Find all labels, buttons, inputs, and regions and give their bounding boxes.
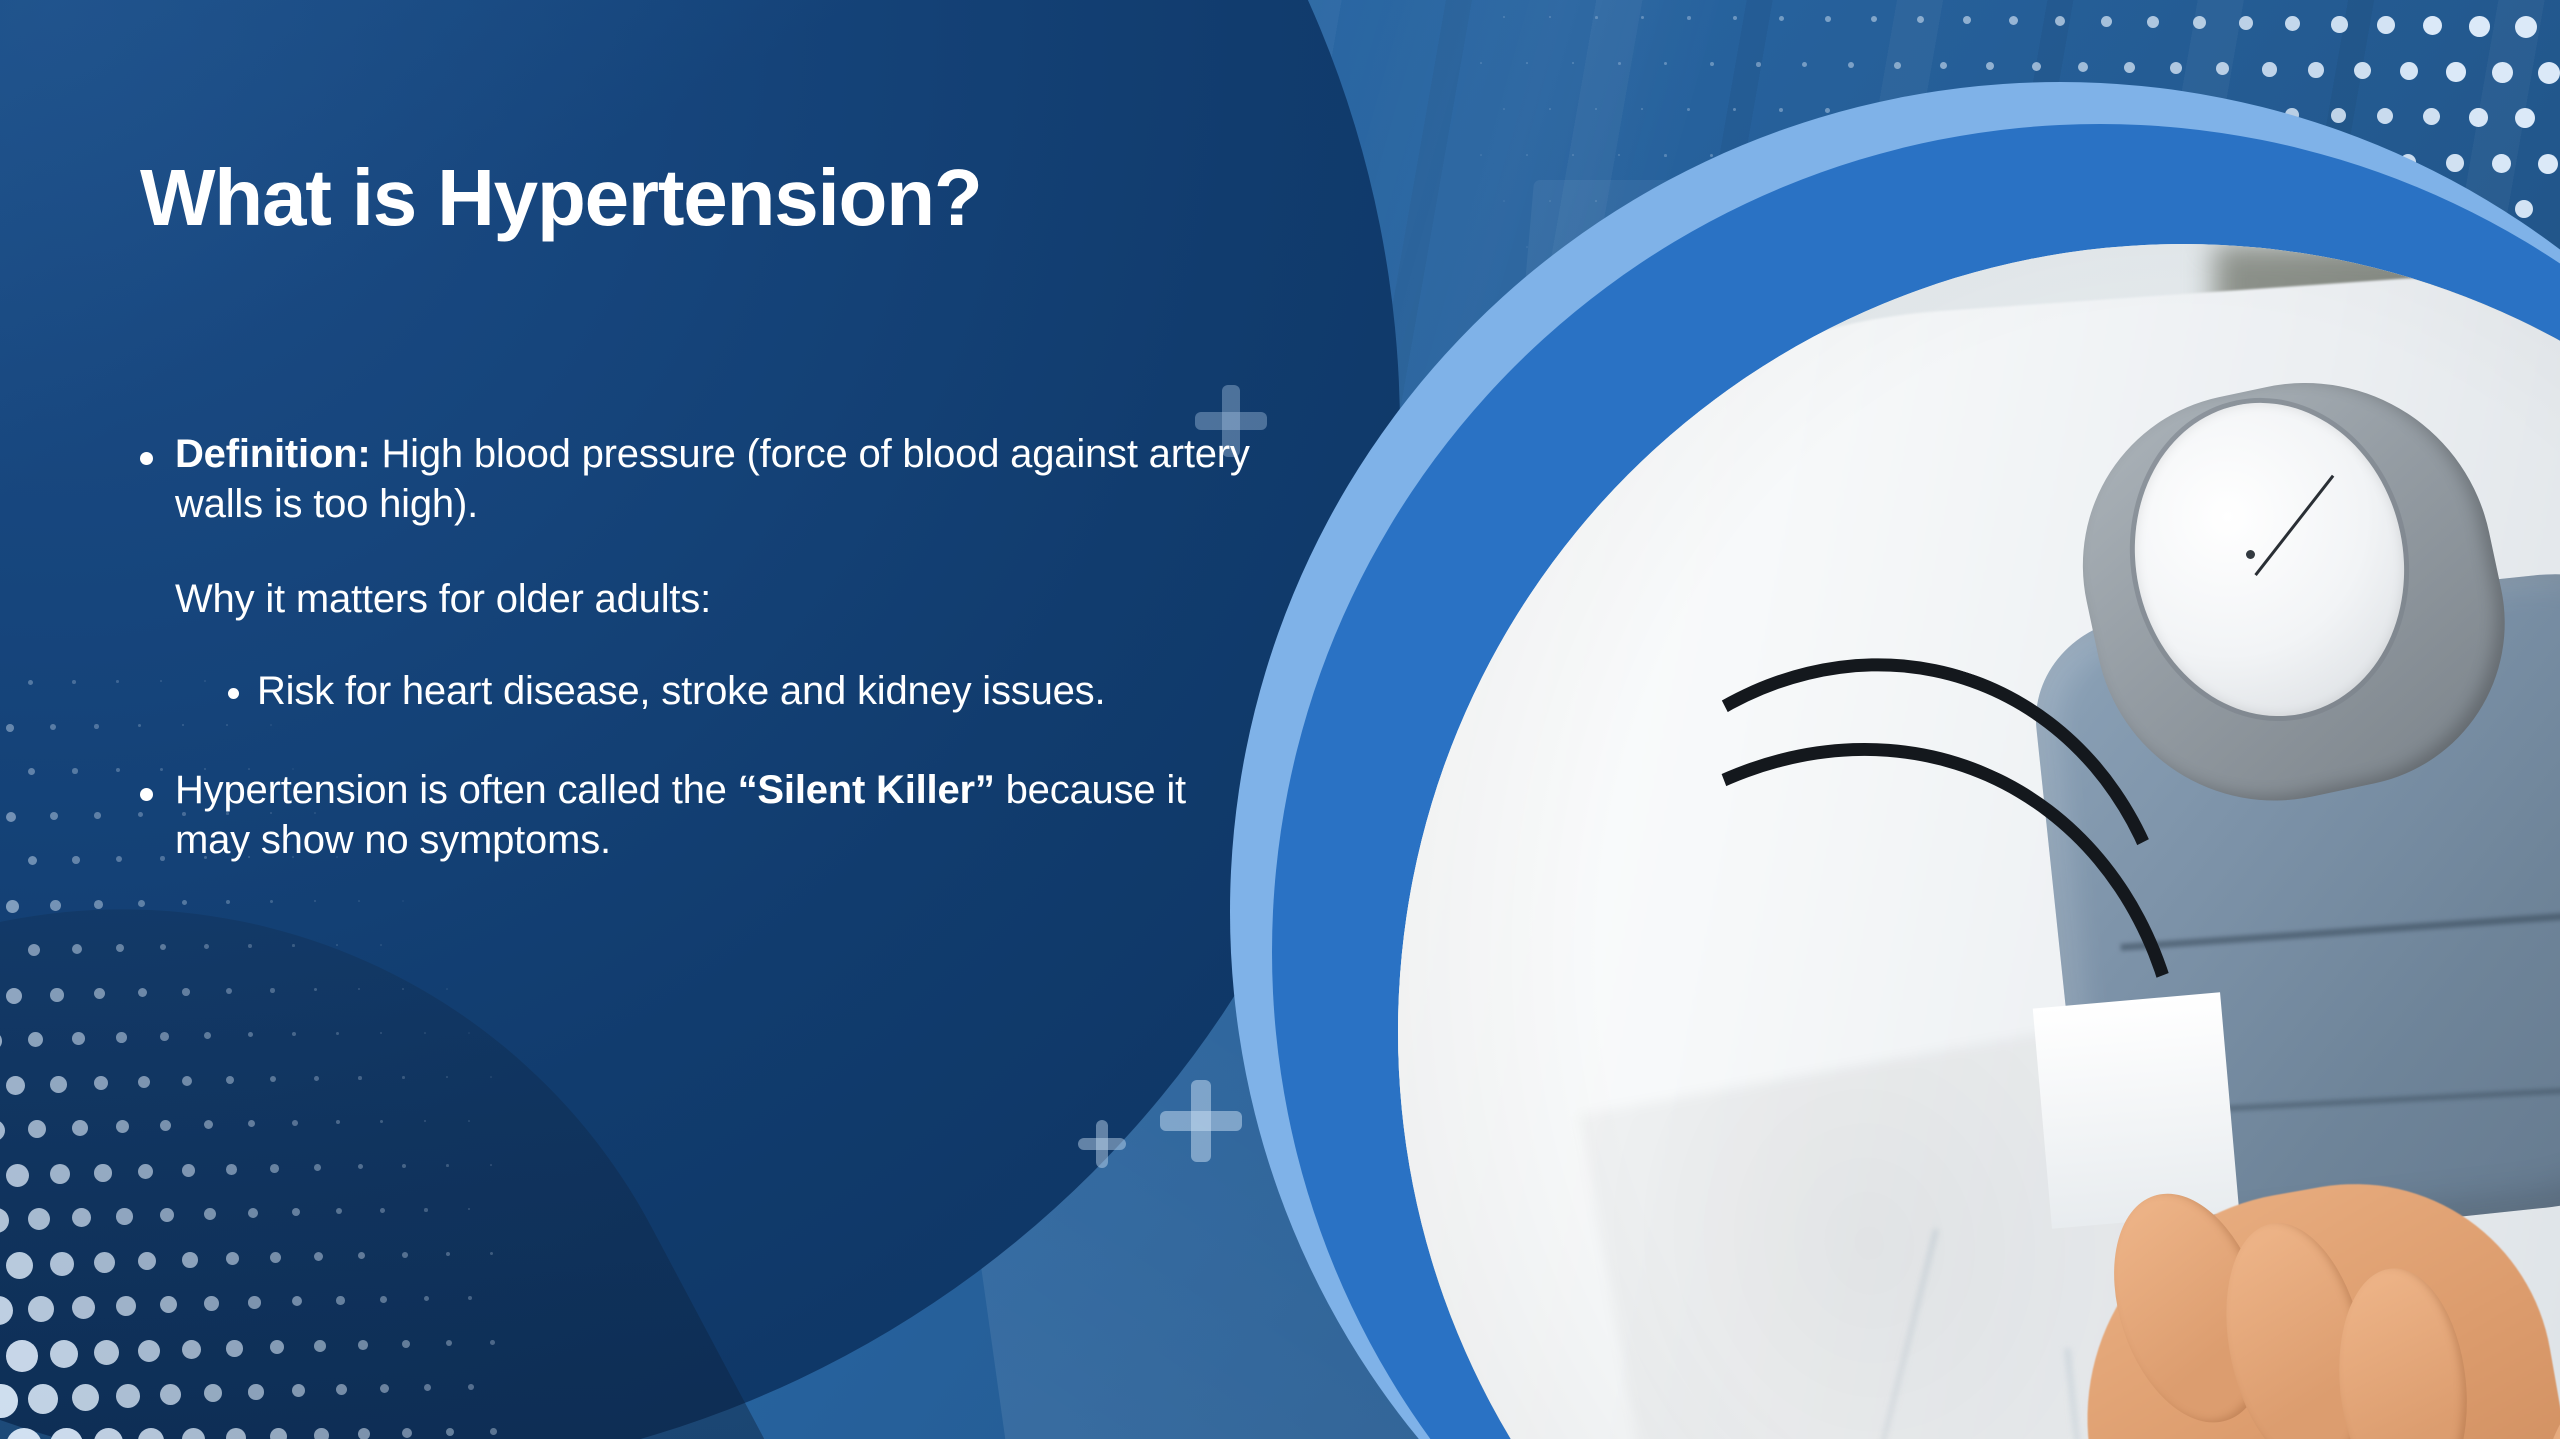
photo-frame-inner-band [1272, 124, 2560, 1439]
bullet-marker-icon [140, 788, 153, 801]
photo-frame-outer-band [1230, 82, 2560, 1439]
bullet-lead-label: Definition: [175, 432, 371, 476]
bullet-marker-icon [228, 688, 239, 699]
bullet-text: Risk for heart disease, stroke and kidne… [257, 667, 1105, 717]
photo-vignette [1398, 244, 2560, 1439]
slide-content: What is Hypertension? Definition: High b… [0, 0, 1330, 1439]
blood-pressure-photo [1398, 244, 2560, 1439]
bullet-text-before: Hypertension is often called the [175, 768, 738, 812]
presentation-slide: What is Hypertension? Definition: High b… [0, 0, 2560, 1439]
bullet-text: Definition: High blood pressure (force o… [175, 430, 1250, 529]
bullet-item-risks: Risk for heart disease, stroke and kidne… [228, 667, 1250, 717]
slide-title: What is Hypertension? [140, 156, 982, 240]
bullet-list: Definition: High blood pressure (force o… [140, 430, 1250, 912]
bullet-item-definition: Definition: High blood pressure (force o… [140, 430, 1250, 529]
bullet-emphasis-silent-killer: “Silent Killer” [738, 768, 995, 812]
bullet-marker-icon [140, 452, 153, 465]
bullet-item-why-it-matters: Why it matters for older adults: [175, 575, 1250, 625]
bullet-item-silent-killer: Hypertension is often called the “Silent… [140, 766, 1250, 865]
bullet-text: Hypertension is often called the “Silent… [175, 766, 1250, 865]
